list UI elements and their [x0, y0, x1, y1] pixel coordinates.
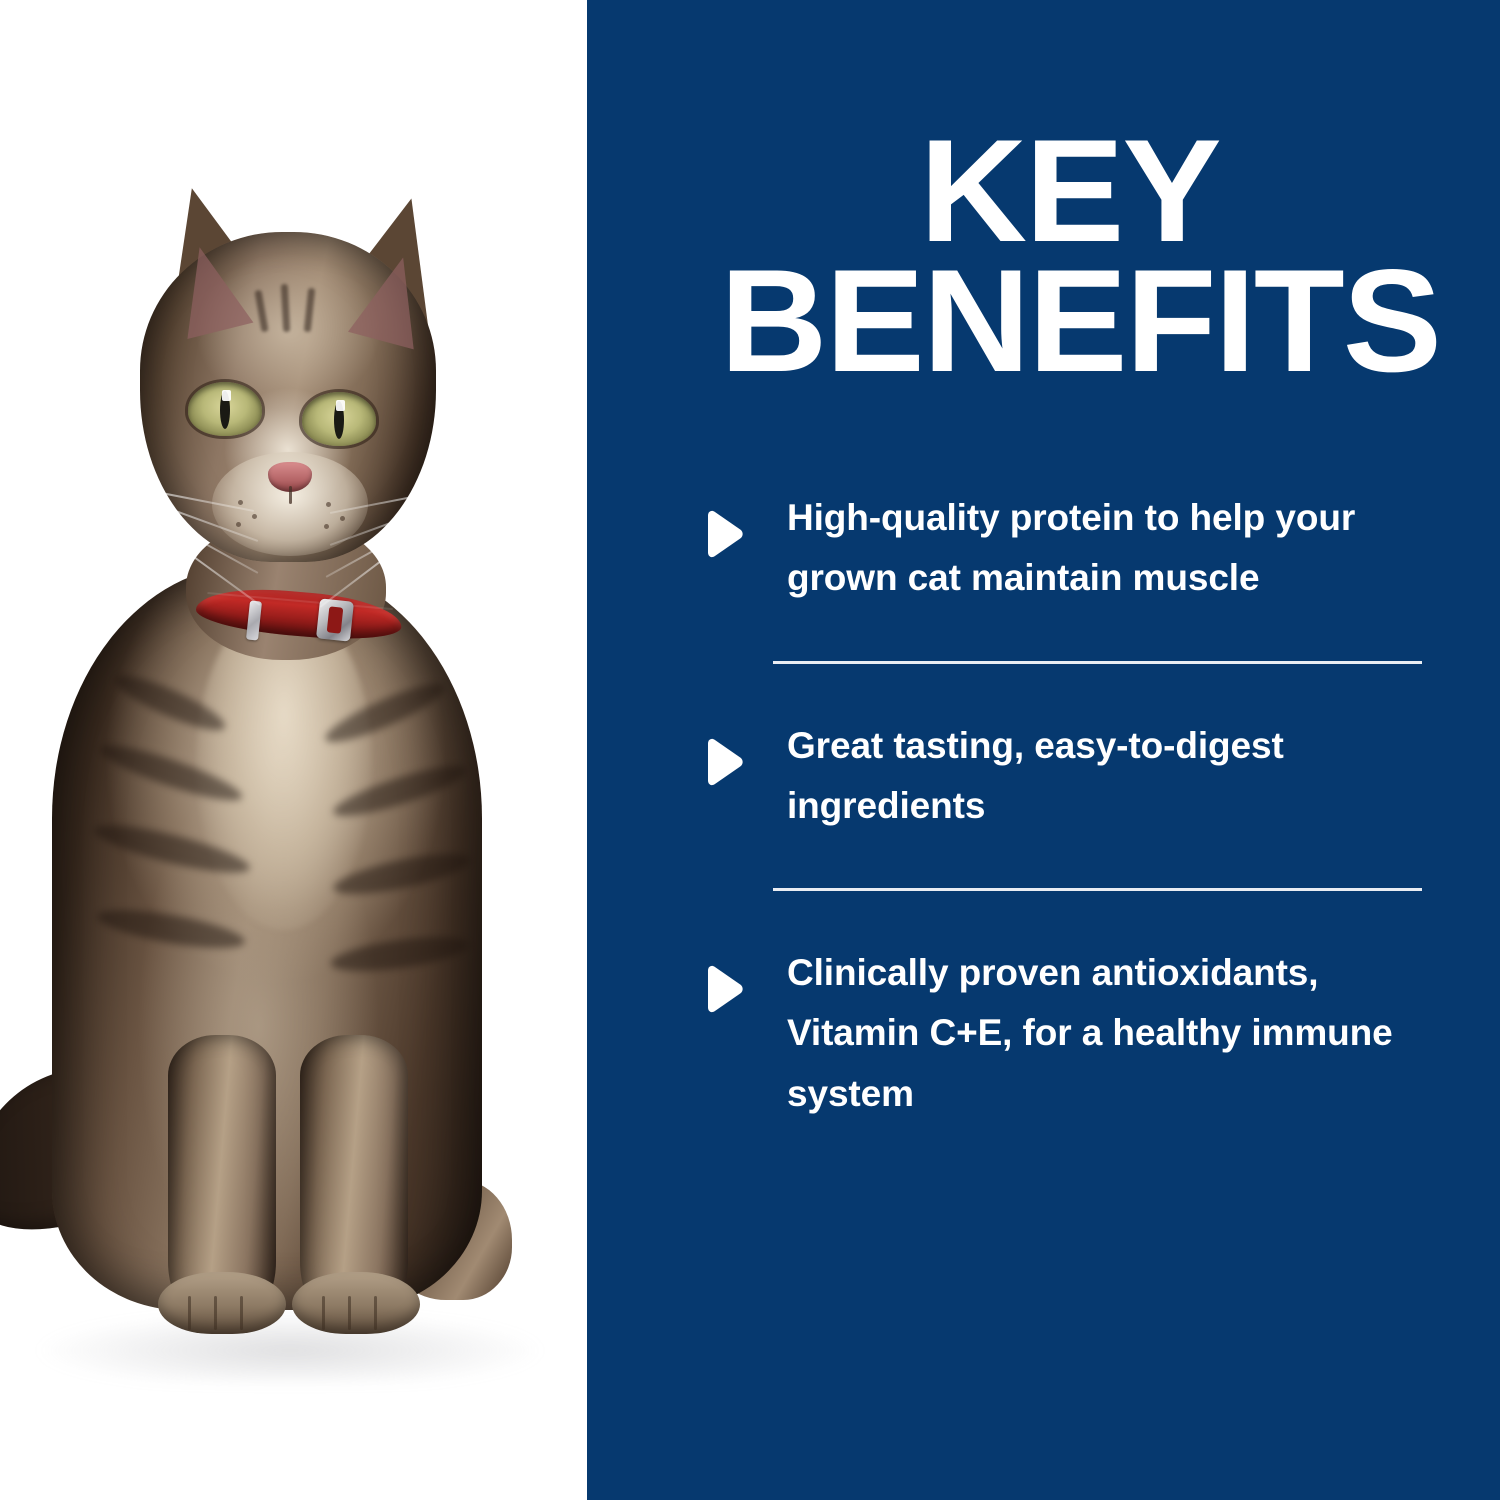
play-triangle-icon [703, 510, 745, 558]
benefit-item-3: Clinically proven antioxidants, Vitamin … [691, 943, 1426, 1124]
headline-line-1: KEY [611, 126, 1440, 256]
whisker-dot [326, 502, 331, 507]
cat-eye-left [188, 382, 262, 436]
headline-line-2: BENEFITS [611, 256, 1440, 386]
whisker-dot [324, 524, 329, 529]
benefit-item-1: High-quality protein to help your grown … [691, 488, 1426, 609]
cat-eye-glint [222, 390, 231, 401]
whisker-dot [252, 514, 257, 519]
cat-photo-panel [0, 0, 587, 1500]
page-title: KEY BENEFITS [611, 126, 1440, 386]
cat-paw-left [158, 1272, 286, 1334]
whisker-dot [236, 522, 241, 527]
benefit-text: Clinically proven antioxidants, Vitamin … [787, 943, 1426, 1124]
benefits-list: High-quality protein to help your grown … [691, 488, 1426, 1124]
benefits-panel: KEY BENEFITS High-quality protein to hel… [587, 0, 1500, 1500]
benefit-divider-2 [773, 888, 1422, 891]
play-triangle-icon [703, 965, 745, 1013]
benefit-item-2: Great tasting, easy-to-digest ingredient… [691, 716, 1426, 837]
play-triangle-icon [703, 738, 745, 786]
cat-toe [348, 1296, 351, 1330]
cat-toe [240, 1296, 243, 1330]
benefit-text: Great tasting, easy-to-digest ingredient… [787, 716, 1426, 837]
key-benefits-poster: KEY BENEFITS High-quality protein to hel… [0, 0, 1500, 1500]
cat-toe [374, 1296, 377, 1330]
cat-paw-right [292, 1272, 420, 1334]
cat-eye-glint [336, 400, 345, 411]
cat-toe [322, 1296, 325, 1330]
benefit-divider-1 [773, 661, 1422, 664]
cat-toe [214, 1296, 217, 1330]
cat-toe [188, 1296, 191, 1330]
cat-photo [0, 0, 587, 1500]
cat-eye-right [302, 392, 376, 446]
benefit-text: High-quality protein to help your grown … [787, 488, 1426, 609]
whisker-dot [238, 500, 243, 505]
whisker-dot [340, 516, 345, 521]
